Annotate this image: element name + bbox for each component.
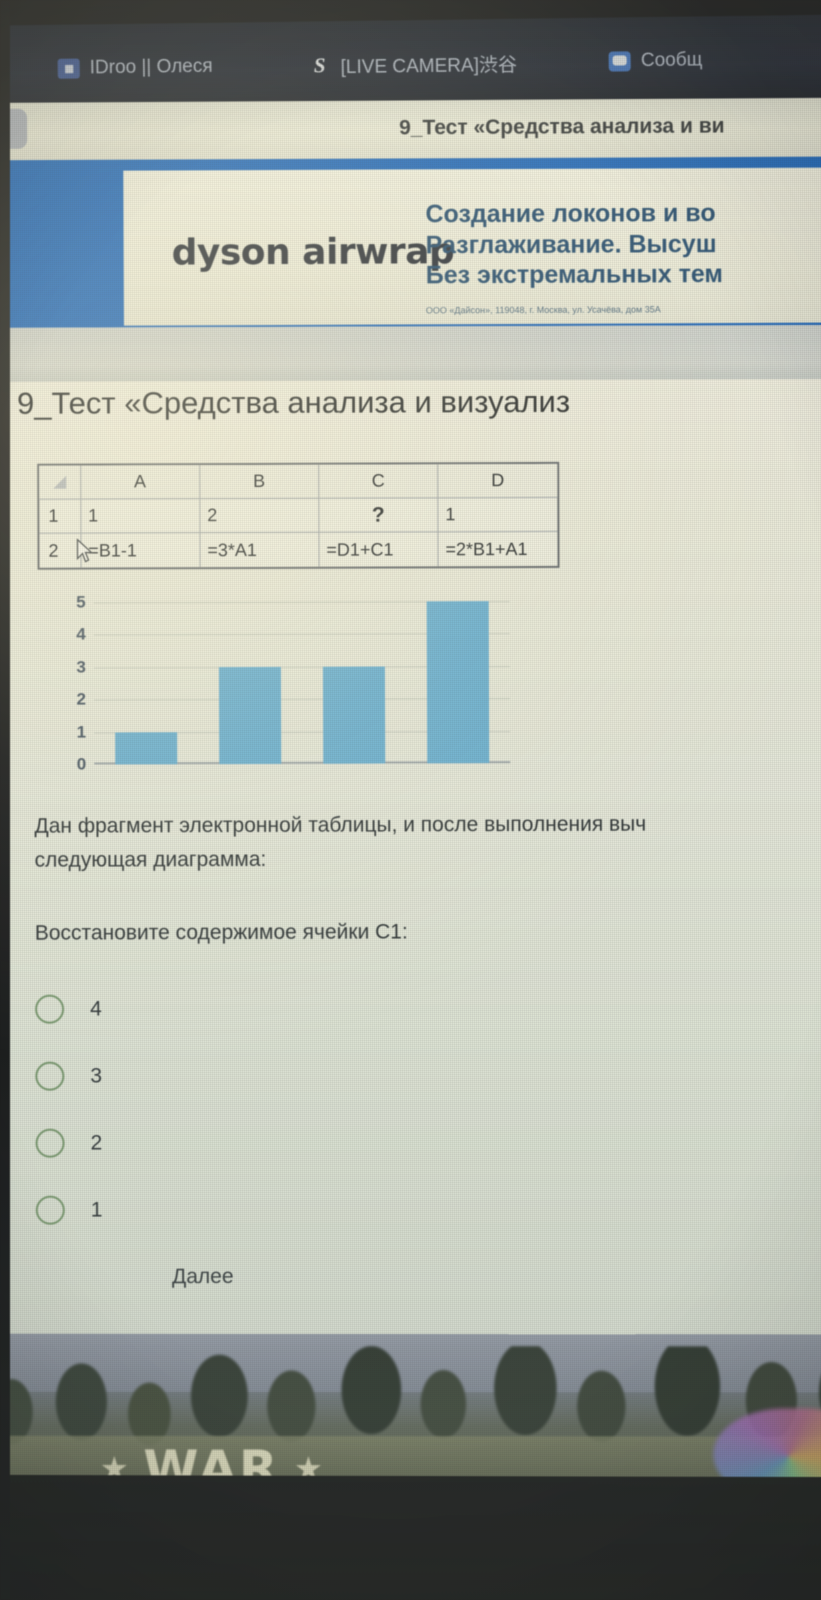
radio-icon-3[interactable] — [35, 1062, 64, 1091]
chart-y-tick-3: 3 — [76, 657, 86, 677]
question-description-line-2: следующая диаграмма: — [35, 841, 821, 878]
spreadsheet-row-2: 2 =B1-1 =3*A1 =D1+C1 =2*B1+A1 — [39, 532, 557, 568]
taskbar-item-3-label: Сообщ — [641, 49, 703, 72]
cell-d2[interactable]: =2*B1+A1 — [438, 532, 557, 566]
cell-c1[interactable]: ? — [319, 498, 438, 532]
answer-option-1[interactable]: 1 — [36, 1175, 436, 1243]
cell-c2[interactable]: =D1+C1 — [319, 532, 438, 566]
cell-d1[interactable]: 1 — [438, 498, 557, 532]
question-description-line-1: Дан фрагмент электронной таблицы, и посл… — [34, 813, 646, 838]
monitor-photo: 一秒沉沦 ▦ IDroo || Олеся S [LIVE CAMERA]渋谷 … — [0, 0, 821, 1600]
chart-y-axis: 543210 — [60, 590, 87, 765]
answer-option-3[interactable]: 3 — [35, 1041, 435, 1109]
cell-a2[interactable]: =B1-1 — [81, 533, 200, 567]
chart-bar-3 — [323, 666, 385, 763]
answer-option-label-3: 3 — [90, 1064, 102, 1088]
page-header-bar — [0, 325, 821, 382]
ad-copy-line-3: Без экстремальных тем — [426, 259, 723, 291]
taskbar-item-1-label: IDroo || Олеся — [90, 56, 213, 80]
spreadsheet-fragment: A B C D 1 1 2 ? 1 2 =B1-1 =3*A1 =D1+C1 — [37, 462, 559, 570]
message-icon — [609, 51, 631, 71]
taskbar-item-2-label: [LIVE CAMERA]渋谷 — [340, 49, 517, 78]
ad-copy: Создание локонов и во Разглаживание. Выс… — [425, 198, 723, 291]
radio-icon-2[interactable] — [36, 1129, 65, 1158]
screen-contents: 一秒沉沦 ▦ IDroo || Олеся S [LIVE CAMERA]渋谷 … — [0, 0, 821, 1600]
cell-b2[interactable]: =3*A1 — [200, 533, 319, 567]
question-description: Дан фрагмент электронной таблицы, и посл… — [34, 807, 821, 878]
dyson-logo: dyson airwrap — [172, 231, 455, 273]
chart-bar-4 — [427, 601, 490, 763]
taskbar-item-idroo[interactable]: ▦ IDroo || Олеся — [58, 56, 213, 80]
column-header-b[interactable]: B — [200, 465, 319, 499]
select-all-corner — [39, 466, 81, 500]
monitor-bezel-bottom — [0, 1475, 821, 1600]
spreadsheet-row-1: 1 1 2 ? 1 — [39, 498, 557, 534]
answer-option-label-2: 2 — [91, 1131, 103, 1155]
cell-b1[interactable]: 2 — [200, 499, 319, 533]
chart-y-tick-4: 4 — [76, 625, 86, 645]
next-button[interactable]: Далее — [172, 1265, 234, 1289]
chart-bar-slot-1 — [94, 589, 199, 764]
chart-bar-slot-4 — [406, 588, 511, 763]
column-header-c[interactable]: C — [319, 464, 438, 498]
chart-y-tick-2: 2 — [77, 690, 87, 710]
chart-bar-1 — [115, 732, 177, 765]
cell-a1[interactable]: 1 — [81, 499, 200, 533]
answer-option-4[interactable]: 4 — [35, 974, 435, 1042]
ad-fine-print: ООО «Дайсон», 119048, г. Москва, ул. Уса… — [426, 304, 661, 315]
chart-bars — [94, 588, 511, 764]
chart-plot-area — [94, 588, 511, 764]
answer-option-2[interactable]: 2 — [35, 1108, 435, 1176]
answer-option-label-4: 4 — [90, 997, 102, 1021]
browser-page-title: 9_Тест «Средства анализа и ви — [399, 114, 725, 140]
bar-chart: 543210 — [60, 588, 511, 765]
browser-chrome: om 9_Тест «Средства анализа и ви — [0, 98, 821, 166]
taskbar-item-messages[interactable]: Сообщ — [609, 49, 703, 72]
column-header-d[interactable]: D — [438, 464, 557, 498]
chart-bar-slot-2 — [198, 589, 303, 764]
advertisement-banner[interactable]: dyson airwrap Создание локонов и во Разг… — [0, 157, 821, 333]
radio-icon-4[interactable] — [35, 995, 64, 1024]
chart-y-tick-1: 1 — [77, 722, 87, 742]
column-header-a[interactable]: A — [81, 465, 200, 499]
radio-icon-1[interactable] — [36, 1196, 65, 1225]
chart-y-tick-0: 0 — [77, 755, 87, 775]
row-header-1[interactable]: 1 — [39, 500, 81, 534]
spreadsheet-header-row: A B C D — [39, 464, 557, 500]
corner-triangle-icon — [53, 476, 66, 489]
answer-option-label-1: 1 — [91, 1198, 103, 1222]
idroo-icon: ▦ — [58, 59, 80, 79]
taskbar-item-live-camera[interactable]: S [LIVE CAMERA]渋谷 — [308, 49, 517, 79]
row-header-2[interactable]: 2 — [39, 534, 81, 568]
question-prompt: Восстановите содержимое ячейки C1: — [35, 920, 408, 945]
s-icon: S — [308, 55, 330, 75]
page-title: 9_Тест «Средства анализа и визуализ — [17, 384, 570, 422]
monitor-bezel-left — [0, 0, 10, 1600]
ad-card[interactable]: dyson airwrap Создание локонов и во Разг… — [123, 167, 821, 325]
ad-copy-line-2: Разглаживание. Высуш — [426, 229, 723, 261]
chart-bar-2 — [219, 667, 281, 764]
ad-copy-line-1: Создание локонов и во — [425, 198, 722, 230]
chart-bar-slot-3 — [302, 588, 407, 763]
chart-y-tick-5: 5 — [76, 593, 86, 613]
quiz-page: 9_Тест «Средства анализа и визуализ A B … — [0, 325, 821, 1344]
answer-options: 4321 — [35, 974, 436, 1243]
